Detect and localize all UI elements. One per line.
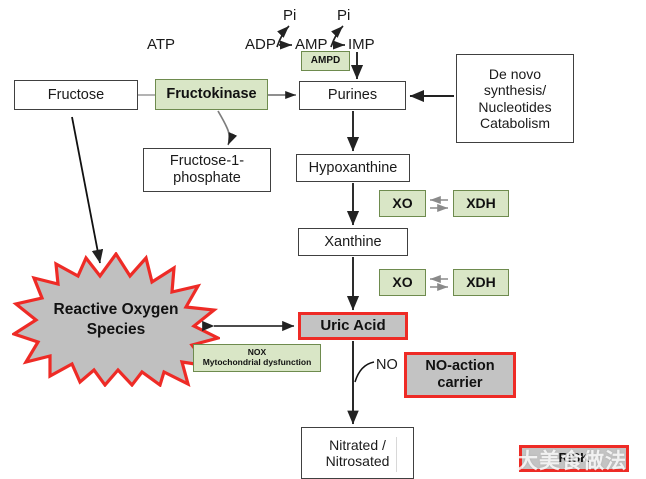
denovo-line2: synthesis/ — [484, 82, 546, 98]
node-fructose[interactable]: Fructose — [14, 80, 138, 110]
node-de-novo-synthesis[interactable]: De novo synthesis/ Nucleotides Catabolis… — [456, 54, 574, 143]
node-purines[interactable]: Purines — [299, 81, 406, 110]
node-xanthine[interactable]: Xanthine — [298, 228, 408, 256]
no-action-line2: carrier — [437, 375, 482, 392]
fructose-1-phosphate-line2: phosphate — [173, 170, 241, 187]
diagram-canvas: ATP ADP AMP IMP Pi Pi NO Fructose Fructo… — [0, 0, 646, 472]
node-xdh-upper[interactable]: XDH — [453, 190, 509, 217]
node-fructose-1-phosphate[interactable]: Fructose-1- phosphate — [143, 148, 271, 192]
node-hypoxanthine[interactable]: Hypoxanthine — [296, 154, 410, 182]
node-xo-lower[interactable]: XO — [379, 269, 426, 296]
node-fructokinase[interactable]: Fructokinase — [155, 79, 268, 110]
nitrated-line1: Nitrated / — [329, 437, 386, 453]
label-no: NO — [376, 357, 398, 373]
node-uric-acid[interactable]: Uric Acid — [298, 312, 408, 340]
label-pi-right: Pi — [337, 7, 350, 24]
arrow-fructose-to-ros — [72, 117, 100, 263]
arrow-pi-left — [277, 26, 289, 47]
fructose-1-phosphate-line1: Fructose-1- — [170, 153, 244, 170]
star-shape — [12, 252, 220, 387]
equilibrium-arrow-upper — [430, 200, 448, 208]
denovo-line1: De novo — [489, 66, 541, 82]
node-xo-upper[interactable]: XO — [379, 190, 426, 217]
branch-no — [355, 362, 374, 382]
nox-line2: Mytochondrial dysfunction — [203, 358, 312, 368]
node-reactive-oxygen-species[interactable]: Reactive Oxygen Species — [12, 252, 220, 387]
label-imp: IMP — [348, 36, 375, 53]
node-xdh-lower[interactable]: XDH — [453, 269, 509, 296]
watermark-text: 大美食做法 — [517, 445, 627, 475]
denovo-line4: Catabolism — [480, 115, 550, 131]
node-no-action-carrier[interactable]: NO-action carrier — [404, 352, 516, 398]
arrow-pi-right — [331, 26, 343, 47]
node-ampd[interactable]: AMPD — [301, 51, 350, 71]
equilibrium-arrow-lower — [430, 279, 448, 287]
label-atp: ATP — [147, 36, 175, 53]
arrow-fructokinase-to-f1p — [218, 111, 230, 145]
label-pi-left: Pi — [283, 7, 296, 24]
nitrated-line2: Nitrosated — [326, 453, 390, 469]
denovo-line3: Nucleotides — [478, 99, 551, 115]
no-action-line1: NO-action — [425, 358, 494, 375]
node-nox[interactable]: NOX Mytochondrial dysfunction — [193, 344, 321, 372]
watermark-rule — [396, 437, 397, 472]
label-adp: ADP — [245, 36, 276, 53]
